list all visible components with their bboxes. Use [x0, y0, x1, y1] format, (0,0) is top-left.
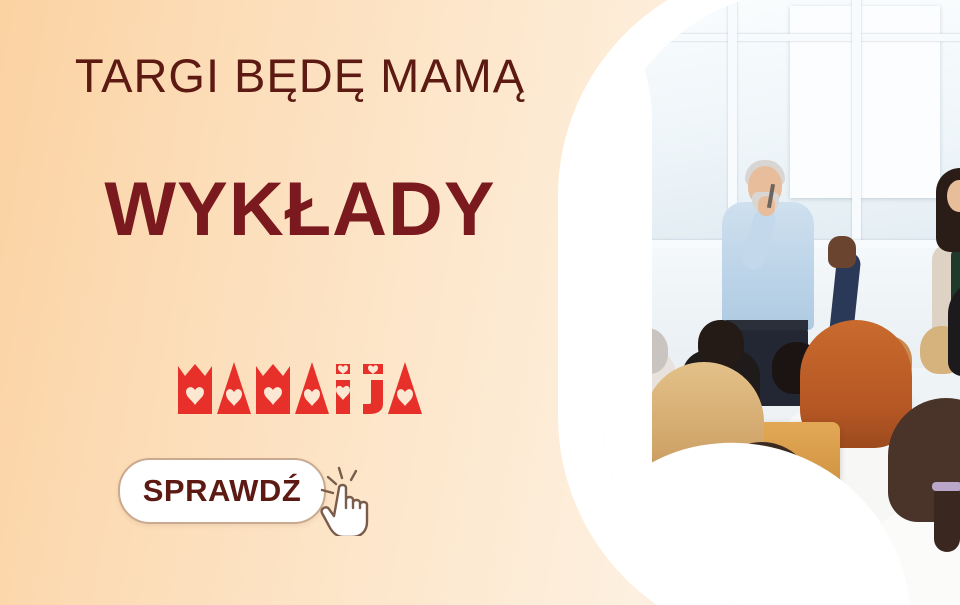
headline: WYKŁADY — [0, 166, 600, 253]
sprawdz-button-label: SPRAWDŹ — [143, 473, 302, 509]
logo-letter-i-icon — [334, 360, 352, 414]
logo-letter-a-icon — [388, 360, 422, 414]
logo-letter-j-icon — [357, 360, 383, 414]
logo-letter-m-icon — [178, 360, 212, 414]
pointing-hand-click-icon — [306, 462, 382, 536]
lecture-photo — [602, 0, 960, 605]
logo-letter-a-icon — [295, 360, 329, 414]
photo-left-curve-mask — [602, 0, 652, 605]
photo-composition — [540, 0, 960, 605]
sprawdz-button[interactable]: SPRAWDŹ — [118, 458, 326, 524]
logo-letter-m-icon — [256, 360, 290, 414]
logo-letter-a-icon — [217, 360, 251, 414]
promo-banner: TARGI BĘDĘ MAMĄ WYKŁADY — [0, 0, 960, 605]
mama-i-ja-logo — [0, 360, 600, 414]
page-title: TARGI BĘDĘ MAMĄ — [0, 48, 600, 103]
